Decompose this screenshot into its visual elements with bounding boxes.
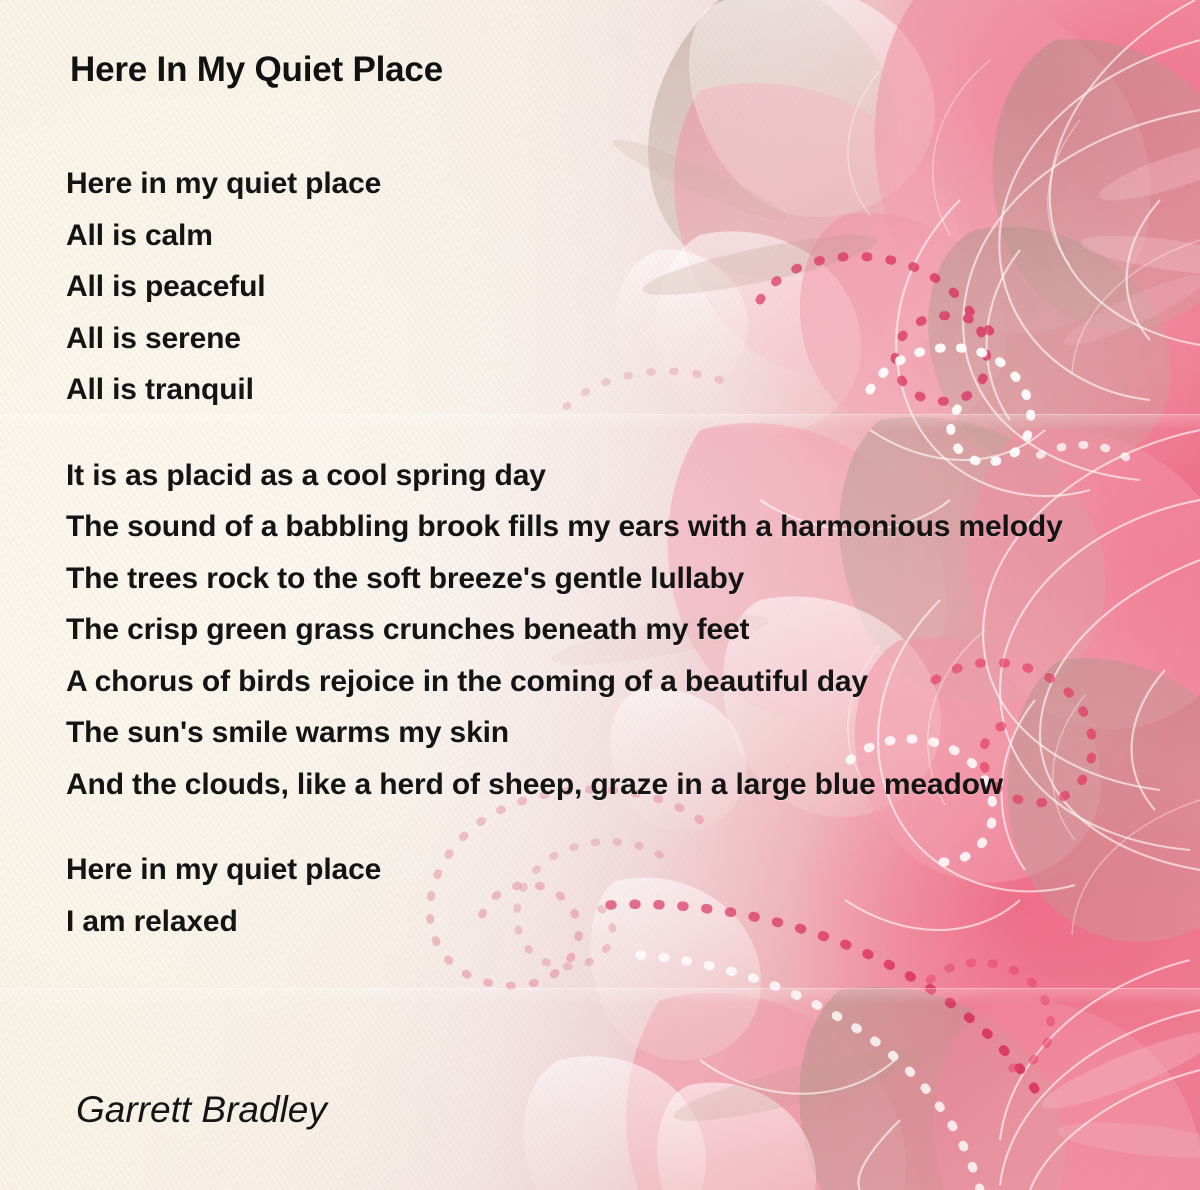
poem-line: All is peaceful bbox=[66, 261, 1176, 313]
poem-card: Here In My Quiet Place Here in my quiet … bbox=[0, 0, 1200, 1190]
poem-line: The trees rock to the soft breeze's gent… bbox=[66, 553, 1176, 605]
poem-line: The sound of a babbling brook fills my e… bbox=[66, 501, 1176, 553]
poem-author: Garrett Bradley bbox=[76, 1089, 327, 1131]
poem-line: All is serene bbox=[66, 313, 1176, 365]
poem-line: All is tranquil bbox=[66, 364, 1176, 416]
poem-line: The sun's smile warms my skin bbox=[66, 707, 1176, 759]
poem-line: And the clouds, like a herd of sheep, gr… bbox=[66, 759, 1176, 811]
poem-title: Here In My Quiet Place bbox=[70, 50, 443, 90]
poem-stanza-3: Here in my quiet place I am relaxed bbox=[66, 844, 1176, 947]
poem-line: A chorus of birds rejoice in the coming … bbox=[66, 656, 1176, 708]
poem-text-block: Here In My Quiet Place Here in my quiet … bbox=[0, 0, 1200, 1190]
poem-line: Here in my quiet place bbox=[66, 158, 1176, 210]
poem-line: It is as placid as a cool spring day bbox=[66, 450, 1176, 502]
poem-line: Here in my quiet place bbox=[66, 844, 1176, 896]
poem-body: Here in my quiet place All is calm All i… bbox=[66, 158, 1176, 981]
poem-line: I am relaxed bbox=[66, 896, 1176, 948]
poem-stanza-1: Here in my quiet place All is calm All i… bbox=[66, 158, 1176, 416]
poem-stanza-2: It is as placid as a cool spring day The… bbox=[66, 450, 1176, 811]
poem-line: The crisp green grass crunches beneath m… bbox=[66, 604, 1176, 656]
poem-line: All is calm bbox=[66, 210, 1176, 262]
